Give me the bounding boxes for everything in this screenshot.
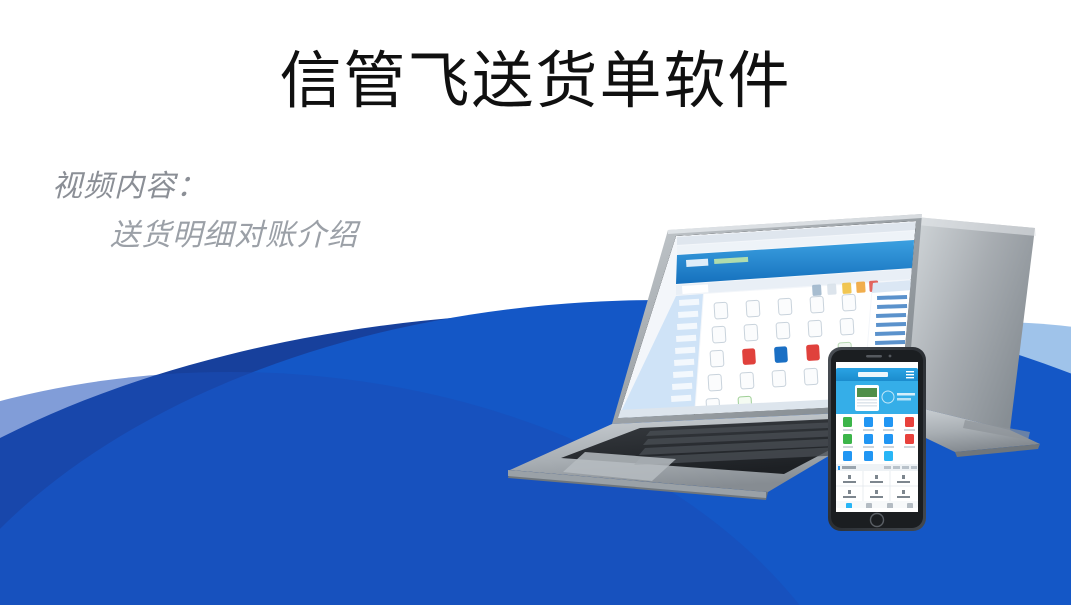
footer-bar: 信管飞软件演示视频 一站式解决方案，应用逐步深入、投入小见效快！ — [0, 498, 1071, 605]
hamburger-menu-icon — [906, 371, 914, 378]
presentation-slide: 信管飞送货单软件 视频内容： 送货明细对账介绍 — [0, 0, 1071, 605]
